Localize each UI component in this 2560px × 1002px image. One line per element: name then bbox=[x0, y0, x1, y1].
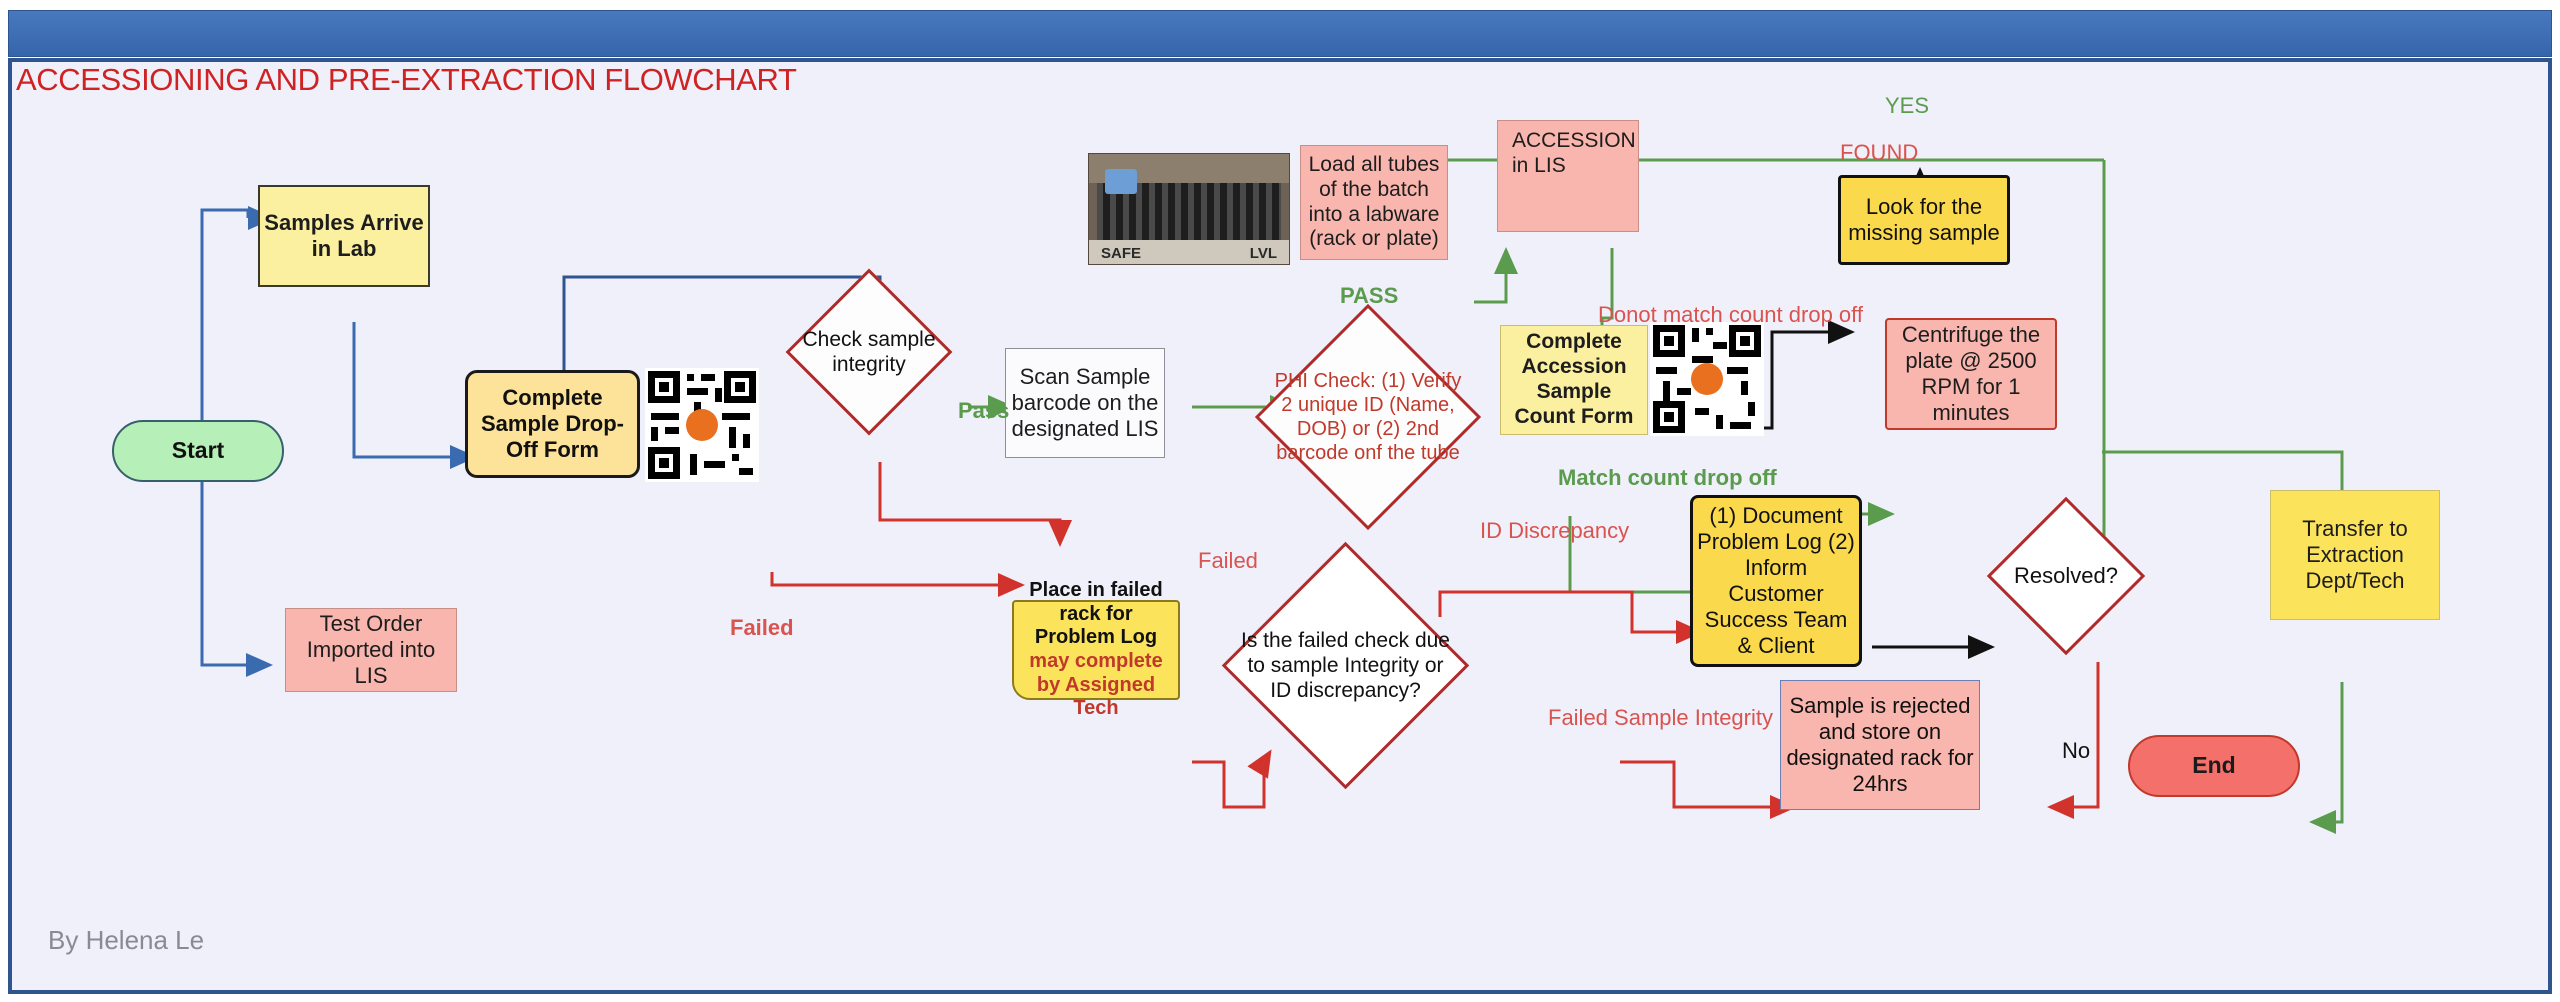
node-samples-arrive-in-lab[interactable]: Samples Arrive in Lab bbox=[258, 185, 430, 287]
node-place-in-failed-rack[interactable]: Place in failed rack for Problem Log may… bbox=[1012, 600, 1180, 700]
node-start[interactable]: Start bbox=[112, 420, 284, 482]
node-end[interactable]: End bbox=[2128, 735, 2300, 797]
node-transfer-to-extraction[interactable]: Transfer to Extraction Dept/Tech bbox=[2270, 490, 2440, 620]
photo-brand-right: LVL bbox=[1250, 245, 1277, 262]
node-accession-in-lis[interactable]: ACCESSION in LIS bbox=[1497, 120, 1639, 232]
titlebar-gradient bbox=[9, 11, 2551, 56]
edge-label-id-discrepancy: ID Discrepancy bbox=[1480, 518, 1629, 544]
node-look-for-missing-sample[interactable]: Look for the missing sample bbox=[1838, 175, 2010, 265]
photo-blue-tube bbox=[1105, 169, 1137, 193]
edge-label-failed-integrity: Failed bbox=[1198, 548, 1258, 574]
node-load-all-tubes[interactable]: Load all tubes of the batch into a labwa… bbox=[1300, 145, 1448, 260]
node-scan-sample-barcode[interactable]: Scan Sample barcode on the designated LI… bbox=[1005, 348, 1165, 458]
node-sample-rejected[interactable]: Sample is rejected and store on designat… bbox=[1780, 680, 1980, 810]
node-complete-sample-drop-off-form[interactable]: Complete Sample Drop-Off Form bbox=[465, 370, 640, 478]
screenshot-root: ACCESSIONING AND PRE-EXTRACTION FLOWCHAR… bbox=[0, 0, 2560, 1002]
qr-code-count-form bbox=[1650, 322, 1764, 436]
edge-label-found: FOUND bbox=[1840, 140, 1918, 166]
node-centrifuge-plate[interactable]: Centrifuge the plate @ 2500 RPM for 1 mi… bbox=[1885, 318, 2057, 430]
labware-rack-photo: SAFE LVL bbox=[1088, 153, 1290, 265]
edge-label-no: No bbox=[2062, 738, 2090, 764]
edge-label-donot-match: Donot match count drop off bbox=[1598, 302, 1863, 328]
node-document-problem-log[interactable]: (1) Document Problem Log (2) Inform Cust… bbox=[1690, 495, 1862, 667]
node-failed-check-reason[interactable]: Is the failed check due to sample Integr… bbox=[1258, 578, 1433, 753]
node-complete-accession-sample-count-form[interactable]: Complete Accession Sample Count Form bbox=[1500, 325, 1648, 435]
edge-label-match-count: Match count drop off bbox=[1558, 465, 1777, 491]
node-phi-check[interactable]: PHI Check: (1) Verify 2 unique ID (Name,… bbox=[1288, 337, 1448, 497]
edge-label-yes: YES bbox=[1885, 93, 1929, 119]
window-titlebar bbox=[8, 10, 2552, 57]
edge-label-pass-phi: PASS bbox=[1340, 283, 1398, 309]
qr-code-dropoff bbox=[645, 368, 759, 482]
node-resolved[interactable]: Resolved? bbox=[2010, 520, 2122, 632]
node-check-sample-integrity[interactable]: Check sample integrity bbox=[810, 293, 928, 411]
edge-label-pass-integrity: Pass bbox=[958, 398, 1009, 424]
edge-label-failed-sample-integrity: Failed Sample Integrity bbox=[1548, 705, 1773, 731]
edge-label-failed-left: Failed bbox=[730, 615, 794, 641]
node-test-order-imported-into-lis[interactable]: Test Order Imported into LIS bbox=[285, 608, 457, 692]
photo-brand-left: SAFE bbox=[1101, 245, 1141, 262]
